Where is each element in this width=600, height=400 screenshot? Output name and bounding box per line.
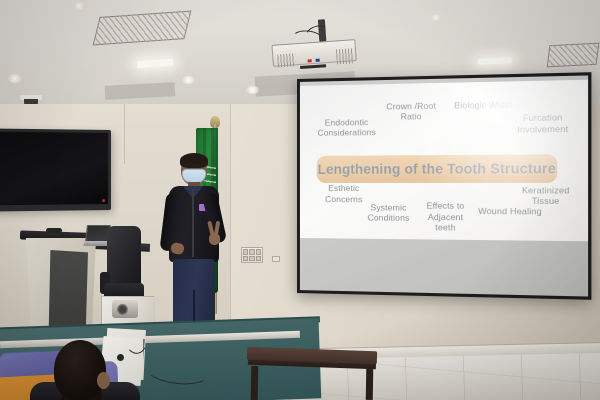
podium-microphone [46, 228, 62, 233]
wall-outlet[interactable] [272, 256, 280, 262]
ceiling-downlight-3 [182, 76, 195, 84]
switch-6[interactable] [256, 256, 261, 262]
switch-2[interactable] [249, 249, 254, 255]
ceiling-downlight-4 [246, 86, 259, 94]
ceiling-tile-dark-2 [105, 82, 176, 100]
ceiling-light-strip [137, 59, 173, 68]
switch-1[interactable] [243, 249, 248, 255]
projector-vent-left [277, 53, 296, 67]
wall-seam-2 [124, 104, 125, 164]
tv-screen [0, 132, 108, 206]
projection-screen: Endodontic ConsiderationsCrown /Root Rat… [297, 72, 591, 300]
projection-screen-surface: Endodontic ConsiderationsCrown /Root Rat… [300, 75, 588, 296]
slide-label-furcation-involvement: Furcation Involvement [501, 112, 585, 135]
presenter-eyes [185, 164, 203, 167]
projector-body [271, 39, 356, 67]
switch-4[interactable] [243, 256, 248, 262]
office-chair-backrest [107, 226, 141, 286]
lecture-hall-photo: Endodontic ConsiderationsCrown /Root Rat… [0, 0, 600, 400]
ceiling-air-vent-center [93, 11, 192, 46]
ceiling-projector [271, 33, 357, 69]
projector-led-blue [316, 59, 320, 62]
ceiling-downlight-1 [72, 2, 86, 10]
tv-power-led [102, 199, 105, 202]
presentation-slide: Endodontic ConsiderationsCrown /Root Rat… [300, 80, 588, 242]
jacket-zipper [192, 189, 194, 257]
audience-member-head [54, 340, 106, 400]
ceiling-air-vent-right [547, 43, 600, 68]
projector-led-red [308, 59, 312, 62]
bench-leg-right [366, 369, 374, 400]
ceiling-downlight-2 [8, 74, 22, 83]
audience-member-ear [97, 372, 110, 389]
presenter-right-hand [209, 233, 220, 245]
slide-label-keratinized-tissue: Keratinized Tissue [507, 185, 585, 207]
projector-vent-right [336, 48, 353, 64]
bench-leg-left [251, 366, 259, 400]
face-mask [182, 169, 206, 183]
wall-mounted-tv [0, 129, 111, 212]
slide-label-wound-healing: Wound Healing [466, 205, 555, 216]
ceiling-light-strip-right [478, 57, 512, 65]
switch-3[interactable] [256, 249, 261, 255]
slide-label-biologic-width: Biologic Width [440, 99, 528, 111]
ceiling-downlight-5 [430, 14, 442, 21]
slide-banner: Lengthening of the Tooth Structure [316, 154, 557, 183]
wall-seam-1 [230, 104, 231, 354]
light-switch-plate[interactable] [241, 247, 263, 263]
slide-banner-text: Lengthening of the Tooth Structure [318, 161, 556, 177]
switch-5[interactable] [249, 256, 254, 262]
